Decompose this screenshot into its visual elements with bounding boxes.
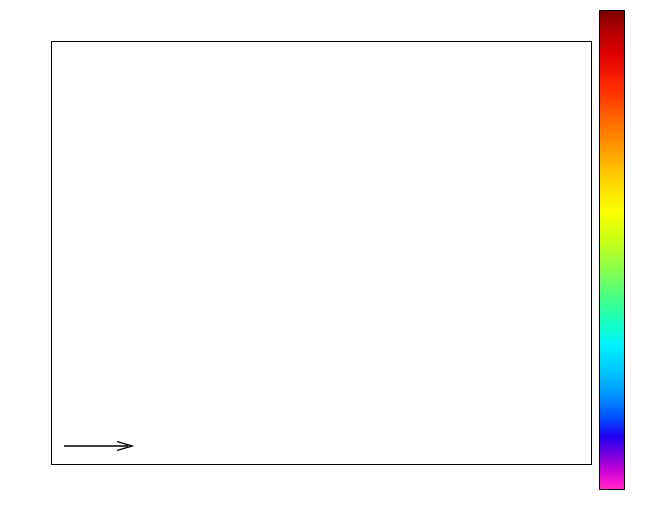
map-plot-area[interactable] <box>51 41 592 465</box>
sst-map-figure <box>0 0 651 518</box>
velocity-scale-bar <box>62 438 157 452</box>
sst-map-canvas <box>52 42 591 464</box>
right-arrow-icon <box>62 440 140 452</box>
temperature-colorbar <box>599 10 625 490</box>
